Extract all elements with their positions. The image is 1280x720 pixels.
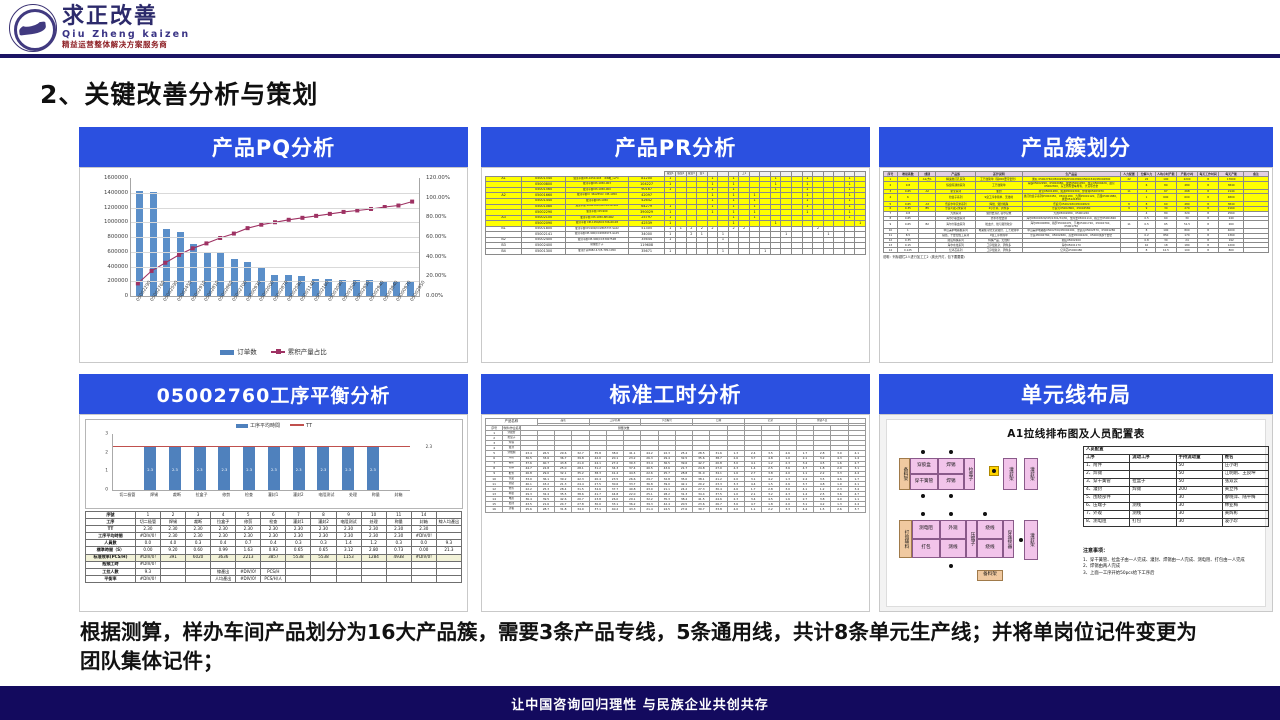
balance-cell: 2.30	[411, 526, 436, 533]
balance-cell: 2.30	[261, 526, 286, 533]
balance-cell: 3857	[261, 554, 286, 561]
slide-footer: 让中国咨询回归理性 与民族企业共创共存	[0, 686, 1280, 720]
balance-takt-line	[113, 446, 410, 447]
summary-text: 根据测算，样办车间产品划分为16大产品簇，需要3条产品专线，5条通用线，共计8条…	[80, 618, 1210, 676]
cluster-cell-split: 0.5	[1138, 221, 1155, 229]
balance-cell: 6	[261, 512, 286, 519]
pr-mark	[707, 249, 718, 255]
layout-station-box: 焊锡	[938, 458, 964, 474]
balance-cell: 4	[211, 512, 236, 519]
pr-qty: 35671	[628, 249, 665, 255]
balance-cell	[286, 568, 311, 575]
cluster-cell-men	[1120, 181, 1137, 189]
personnel-row: 4、灌封焊锡200黄立伟	[1084, 487, 1269, 495]
balance-cell: #DIV/0!	[411, 533, 436, 540]
pr-mark	[823, 249, 834, 255]
pr-mark	[676, 249, 687, 255]
balance-cell: 2.30	[336, 526, 361, 533]
balance-bar: 2.3	[367, 447, 379, 490]
personnel-row: 1、附件50庄小明	[1084, 463, 1269, 471]
personnel-config-table: 人员配置工序流动工序手持流动量姓名1、附件50庄小明2、焊锡50江明刚、王良坤3…	[1083, 446, 1269, 527]
balance-cell	[311, 561, 336, 568]
balance-x-axis-labels: 切二极管焊锡裁断拉盒子修剪检查灌封1灌封2电阻测试处理称量封箱	[112, 492, 410, 498]
personnel-cell: 黄立伟	[1222, 487, 1268, 495]
cluster-cell-line	[918, 181, 935, 189]
balance-row-label: 标准效率(PCS/H)	[86, 554, 136, 561]
cluster-cell-daily: 260	[1219, 221, 1244, 229]
personnel-cell: 张双云	[1222, 479, 1268, 487]
pq-y-tick: 600000	[84, 249, 128, 255]
personnel-cell: 30	[1176, 511, 1222, 519]
balance-table-row: 工拉人數9.3線產出#DIV/0!PCS/H	[86, 568, 462, 575]
balance-cell	[286, 575, 311, 582]
operator-dot	[1019, 538, 1023, 542]
cluster-cell-no: 9	[884, 221, 898, 229]
operator-dot	[949, 450, 953, 454]
balance-tt-value: 2.3	[426, 444, 432, 449]
personnel-cell	[1130, 471, 1176, 479]
layout-station-box: 焊锡	[938, 474, 964, 490]
personnel-cell: 50	[1176, 463, 1222, 471]
personnel-header-cell: 流动工序	[1130, 455, 1176, 463]
balance-cell	[186, 561, 211, 568]
balance-cell: 1153	[336, 554, 361, 561]
balance-cell: 1.2	[361, 540, 386, 547]
pr-mark	[834, 249, 845, 255]
balance-cell: 电阻测试	[336, 519, 361, 526]
cluster-cell-products: 亿鸿芯05000480	[1022, 248, 1120, 253]
balance-cell: #DIV/0!	[135, 554, 160, 561]
pq-y-tick: 1600000	[84, 175, 128, 181]
balance-bar: 2.3	[194, 447, 206, 490]
cluster-table: 序号难易系数线别产品族差异说明生产品品人力配置分解人力人均小时产能产能/小时每天…	[883, 171, 1269, 253]
standard-hours-wrapper: 产品名称品名工序名称节点编号日期记录测试人员序号零件/作业名称测量次数1穿胶管2…	[485, 418, 866, 608]
balance-cell: 2.30	[336, 533, 361, 540]
balance-x-tick: 切二极管	[119, 492, 135, 498]
pq-gridline	[131, 208, 419, 209]
balance-cell: 0.73	[386, 547, 411, 554]
balance-row-label: 工序平均時間	[86, 533, 136, 540]
balance-bar-label: 2.3	[246, 468, 252, 472]
balance-cell	[411, 561, 436, 568]
pr-mark	[770, 249, 781, 255]
panel-standard-hours-title: 标准工时分析	[481, 374, 870, 414]
balance-bar: 2.3	[169, 447, 181, 490]
pq-legend-line: 累积产量占比	[271, 346, 327, 356]
pr-mark	[802, 249, 813, 255]
balance-cell: 5	[236, 512, 261, 519]
pq-y-tick: 200000	[84, 278, 128, 284]
personnel-cell: 2、焊锡	[1084, 471, 1130, 479]
balance-cell: 灌封1	[286, 519, 311, 526]
balance-cell: PCS/H/人	[261, 575, 286, 582]
personnel-cell: 1、附件	[1084, 463, 1130, 471]
layout-station-box: 打包	[912, 539, 940, 558]
personnel-row: 3、穿干簧管拉盒子50张双云	[1084, 479, 1269, 487]
balance-row-label: TT	[86, 526, 136, 533]
slide-header: 求正改善 Qiu Zheng kaizen 精益运营整体解决方案服务商	[0, 0, 1280, 56]
balance-x-tick: 封箱	[395, 492, 403, 498]
balance-cell: 人均產出	[211, 575, 236, 582]
operator-dot	[949, 564, 953, 568]
balance-cell	[386, 561, 411, 568]
personnel-cell: 4、灌封	[1084, 487, 1130, 495]
balance-cell: 检查	[261, 519, 286, 526]
layout-station-box: 拉盒子	[964, 458, 975, 490]
company-logo: 求正改善 Qiu Zheng kaizen 精益运营整体解决方案服务商	[8, 3, 190, 53]
cluster-cell-men	[1120, 194, 1137, 202]
balance-cell	[236, 561, 261, 568]
cluster-cell-products: 海霸05002290、05002980，奥要05001050、拉克0500042…	[1022, 181, 1120, 189]
balance-cell	[160, 575, 185, 582]
balance-cell: 4938	[386, 554, 411, 561]
balance-bar: 2.3	[342, 447, 354, 490]
cluster-cell-note	[1244, 221, 1269, 229]
cluster-cell-pph: 65	[1155, 221, 1176, 229]
balance-cell: 2.30	[211, 526, 236, 533]
personnel-row: 7、外观测线30黄辉彰	[1084, 511, 1269, 519]
balance-bar: 2.3	[317, 447, 329, 490]
balance-cell: 2.30	[386, 533, 411, 540]
pr-mark	[855, 249, 866, 255]
balance-cell: 9.20	[160, 547, 185, 554]
pq-legend-bar: 订单数	[220, 346, 257, 356]
pq-y2-tick: 120.00%	[423, 175, 463, 181]
balance-cell: 21.3	[436, 547, 461, 554]
pr-mark	[728, 249, 739, 255]
balance-cell: 0.60	[186, 547, 211, 554]
balance-y-tick: 2	[86, 450, 108, 455]
personnel-row: 6、压端子测线30林亚梅	[1084, 503, 1269, 511]
personnel-cell: 黄辉彰	[1222, 511, 1268, 519]
personnel-cell: 30	[1176, 519, 1222, 527]
balance-cell: 2.30	[186, 526, 211, 533]
balance-cell: 14	[411, 512, 436, 519]
balance-y-tick: 0	[86, 488, 108, 493]
balance-cell: 6020	[186, 554, 211, 561]
balance-cell	[361, 568, 386, 575]
balance-cell	[286, 561, 311, 568]
balance-cell: 切二极管	[135, 519, 160, 526]
standard-hours-table: 产品名称品名工序名称节点编号日期记录测试人员序号零件/作业名称测量次数1穿胶管2…	[485, 418, 866, 513]
balance-x-tick: 裁断	[173, 492, 181, 498]
balance-cell: 3.12	[336, 547, 361, 554]
pq-gridline	[131, 222, 419, 223]
balance-cell	[436, 512, 461, 519]
personnel-cell: 3、穿干簧管	[1084, 479, 1130, 487]
panel-pq-body: 0200000400000600000800000100000012000001…	[79, 167, 468, 363]
balance-cell: 10	[361, 512, 386, 519]
balance-cell: 2.30	[135, 526, 160, 533]
pr-matrix-table: 版盒1版盒2版盒3盒1工1A105001540灌注平衡CPI-1050-903 …	[485, 171, 866, 255]
balance-cell: 11	[386, 512, 411, 519]
personnel-cell: 林亚梅	[1222, 503, 1268, 511]
pr-group: B4	[486, 249, 522, 255]
panel-process-balance: 05002760工序平衡分析 工序平均時間 TT 2.32.32.32.32.3…	[79, 374, 468, 612]
balance-bar: 2.3	[218, 447, 230, 490]
panel-pq-title: 产品PQ分析	[79, 127, 468, 167]
operator-dot	[949, 512, 953, 516]
personnel-cell: 5、围绕部件	[1084, 495, 1130, 503]
cell-layout-notes: 注意事项： 1、穿干簧管、拉盒子由一人完成、灌封、焊锡由一人完成、测电阻、打包由…	[1083, 548, 1273, 578]
pq-y-tick: 1400000	[84, 190, 128, 196]
balance-cell: 2.30	[311, 533, 336, 540]
balance-cell: 0.7	[236, 540, 261, 547]
balance-cell: 9.3	[436, 540, 461, 547]
balance-cell: 1	[135, 512, 160, 519]
balance-bar-label: 2.3	[172, 468, 178, 472]
balance-cell	[436, 526, 461, 533]
pr-mark	[739, 249, 750, 255]
personnel-cell	[1130, 495, 1176, 503]
cluster-cell-coef: 6	[897, 194, 918, 202]
balance-bar: 2.3	[144, 447, 156, 490]
balance-legend-bar: 工序平均時間	[236, 422, 280, 429]
balance-cell	[386, 568, 411, 575]
balance-legend: 工序平均時間 TT	[86, 422, 462, 429]
balance-table-row: 序號123456789101114	[86, 512, 462, 519]
personnel-cell: 江明刚、王良坤	[1222, 471, 1268, 479]
personnel-cell: 测线	[1130, 503, 1176, 511]
balance-cell: 2.30	[160, 533, 185, 540]
balance-cell: 3	[186, 512, 211, 519]
balance-cell	[336, 568, 361, 575]
panel-pq-analysis: 产品PQ分析 020000040000060000080000010000001…	[79, 127, 468, 363]
layout-station-box: 穿干簧管	[910, 474, 938, 490]
layout-station-box: 外观	[940, 520, 966, 539]
cluster-cell-products: 奥打拉盒子系列05002450、05001180、九国05001120、百量05…	[1022, 194, 1120, 202]
balance-cell: 0.4	[211, 540, 236, 547]
notes-title: 注意事项：	[1083, 548, 1273, 556]
panel-cell-layout-title: 单元线布局	[879, 374, 1273, 414]
cluster-table-row: 140.125亿鸿芯系列工序很复杂、周件多亿鸿芯05000480812.5100…	[884, 248, 1269, 253]
layout-station-box: 打包辅料	[899, 520, 912, 558]
balance-cell: #DIV/0!	[135, 561, 160, 568]
balance-cell	[336, 561, 361, 568]
personnel-cell: 拉盒子	[1130, 479, 1176, 487]
layout-station-box: 灌封架	[1024, 520, 1038, 560]
balance-cell: 2.30	[311, 526, 336, 533]
balance-cell	[186, 575, 211, 582]
balance-cell: 称量	[386, 519, 411, 526]
balance-cell: 5538	[311, 554, 336, 561]
balance-x-tick: 拉盒子	[196, 492, 208, 498]
balance-cell: 線人均產出	[436, 519, 461, 526]
operator-dot	[921, 494, 925, 498]
cluster-cell-split: 6	[1138, 181, 1155, 189]
cluster-cell-cap: 600	[1176, 194, 1197, 202]
personnel-cell: 7、外观	[1084, 511, 1130, 519]
cluster-cell-diff: 粒血大、线与灌管较杂	[975, 221, 1022, 229]
pr-table-wrapper: 版盒1版盒2版盒3盒1工1A105001540灌注平衡CPI-1050-903 …	[485, 171, 866, 359]
pq-y-tick: 400000	[84, 264, 128, 270]
balance-cell: #DIV/0!	[411, 554, 436, 561]
balance-cell: 焊锡	[160, 519, 185, 526]
personnel-header-cell: 手持流动量	[1176, 455, 1222, 463]
balance-bar-label: 2.3	[370, 468, 376, 472]
cluster-cell-line	[918, 248, 935, 253]
balance-cell	[311, 575, 336, 582]
balance-x-tick: 灌封1	[268, 492, 279, 498]
cluster-cell-pph: 600	[1155, 194, 1176, 202]
balance-cell: 2.30	[236, 526, 261, 533]
logo-name-cn: 求正改善	[62, 6, 190, 28]
pr-mark	[781, 249, 792, 255]
balance-table-row: TT2.302.302.302.302.302.302.302.302.302.…	[86, 526, 462, 533]
personnel-cell: 测线	[1130, 511, 1176, 519]
balance-table-row: 工序平均時間#DIV/0!2.302.302.302.302.302.302.3…	[86, 533, 462, 540]
balance-x-tick: 焊锡	[150, 492, 158, 498]
personnel-cell: 200	[1176, 487, 1222, 495]
panel-pr-body: 版盒1版盒2版盒3盒1工1A105001540灌注平衡CPI-1050-903 …	[481, 167, 870, 363]
cluster-cell-split: 8	[1138, 248, 1155, 253]
balance-cell: 封箱	[411, 519, 436, 526]
balance-cell: 2.30	[361, 526, 386, 533]
pr-mark	[844, 249, 855, 255]
panel-pr-analysis: 产品PR分析 版盒1版盒2版盒3盒1工1A105001540灌注平衡CPI-10…	[481, 127, 870, 363]
operator-dot	[992, 469, 996, 473]
pr-mark	[749, 249, 760, 255]
cluster-cell-cap: 51.5	[1176, 221, 1197, 229]
cluster-table-wrapper: 序号难易系数线别产品族差异说明生产品品人力配置分解人力人均小时产能产能/小时每天…	[883, 171, 1269, 359]
balance-cell: 8	[311, 512, 336, 519]
balance-cell: 0.00	[135, 547, 160, 554]
pq-y2-tick: 100.00%	[423, 195, 463, 201]
balance-data-table: 序號123456789101114工序切二极管焊锡裁断拉盒子修剪检查灌封1灌封2…	[85, 511, 462, 583]
balance-row-label: 平衡率	[86, 575, 136, 582]
cluster-cell-hours: 8	[1198, 181, 1219, 189]
balance-cell	[361, 561, 386, 568]
balance-table-row: 平衡率#DIV/0!人均產出#DIV/0!PCS/H/人	[86, 575, 462, 582]
balance-cell: 1284	[361, 554, 386, 561]
sth-row: 16封箱25.628.731.834.037.140.243.321.424.5…	[486, 507, 866, 512]
balance-chart: 工序平均時間 TT 2.32.32.32.32.32.32.32.32.32.3…	[85, 419, 463, 509]
balance-cell: 2.30	[211, 533, 236, 540]
panel-cluster-title: 产品簇划分	[879, 127, 1273, 167]
personnel-table-title: 人员配置	[1084, 447, 1269, 455]
balance-plot-area: 2.32.32.32.32.32.32.32.32.32.3	[112, 434, 410, 491]
layout-station-box: 绕线	[977, 539, 1003, 558]
balance-cell	[160, 561, 185, 568]
pr-desc: 灌注开关8082.4.5/5-7P0-1050	[565, 249, 628, 255]
cluster-cell-daily: 4800	[1219, 194, 1244, 202]
personnel-cell: 6、压端子	[1084, 503, 1130, 511]
balance-x-tick: 灌封2	[293, 492, 304, 498]
note-item: 3、上面一工序开始50pcs给下工序后	[1083, 571, 1273, 578]
balance-x-tick: 处理	[349, 492, 357, 498]
balance-legend-line: TT	[290, 423, 312, 429]
cluster-cell-diff: 工艺较简单	[975, 181, 1022, 189]
balance-cell: 拉盒子	[211, 519, 236, 526]
balance-cell	[411, 568, 436, 575]
personnel-header-row: 工序流动工序手持流动量姓名	[1084, 455, 1269, 463]
pq-legend: 订单数 累积产量占比	[84, 346, 463, 356]
balance-cell: 0.00	[411, 547, 436, 554]
balance-cell: 3636	[211, 554, 236, 561]
balance-cell: 0.99	[211, 547, 236, 554]
cluster-cell-family: 拉盒子系列	[936, 194, 975, 202]
personnel-cell: 凌小珍	[1222, 519, 1268, 527]
pr-mark	[697, 249, 708, 255]
balance-cell: 2.30	[286, 533, 311, 540]
layout-station-box: 灌封架	[1024, 458, 1038, 490]
personnel-row: 5、围绕部件30廖晓萍、陆平梅	[1084, 495, 1269, 503]
cluster-cell-cap: 100	[1176, 248, 1197, 253]
cluster-cell-line	[918, 194, 935, 202]
personnel-cell: 30	[1176, 495, 1222, 503]
balance-cell: #DIV/0!	[135, 533, 160, 540]
logo-name-en: Qiu Zheng kaizen	[62, 30, 190, 40]
balance-table-row: 人員數0.04.00.30.40.70.40.30.31.41.20.30.09…	[86, 540, 462, 547]
cluster-cell-coef: 0.125	[897, 248, 918, 253]
balance-cell: 9.3	[135, 568, 160, 575]
balance-cell: 7	[286, 512, 311, 519]
personnel-row: 8、测电阻打包30凌小珍	[1084, 519, 1269, 527]
cluster-cell-note	[1244, 194, 1269, 202]
panel-cluster-body: 序号难易系数线别产品族差异说明生产品品人力配置分解人力人均小时产能产能/小时每天…	[879, 167, 1273, 363]
pr-mark: 1	[665, 249, 676, 255]
cluster-cell-diff: 工序很复杂、周件多	[975, 248, 1022, 253]
balance-cell: #DIV/0!	[236, 575, 261, 582]
balance-row-label: 工序	[86, 519, 136, 526]
panel-balance-title: 05002760工序平衡分析	[79, 374, 468, 414]
balance-table-wrapper: 序號123456789101114工序切二极管焊锡裁断拉盒子修剪检查灌封1灌封2…	[85, 511, 462, 609]
balance-bar-label: 2.3	[321, 468, 327, 472]
page-title: 2、关键改善分析与策划	[40, 75, 318, 111]
cluster-cell-pph: 12.5	[1155, 248, 1176, 253]
balance-table-row: 标准效率(PCS/H)#DIV/0!3916020363622133857553…	[86, 554, 462, 561]
balance-row-label: 人員數	[86, 540, 136, 547]
balance-cell: 0.3	[311, 540, 336, 547]
cluster-cell-men: 11	[1120, 221, 1137, 229]
panel-pr-title: 产品PR分析	[481, 127, 870, 167]
balance-cell: 2.30	[160, 526, 185, 533]
cluster-footnote: 说明：列标题栏2人进行加工工2（奥允开灯，包下要要要）	[883, 253, 1269, 259]
panel-product-cluster: 产品簇划分 序号难易系数线别产品族差异说明生产品品人力配置分解人力人均小时产能产…	[879, 127, 1273, 363]
balance-cell	[361, 575, 386, 582]
balance-cell: 2.30	[361, 533, 386, 540]
balance-table-row: 工序切二极管焊锡裁断拉盒子修剪检查灌封1灌封2电阻测试处理称量封箱線人均產出	[86, 519, 462, 526]
balance-y-tick: 3	[86, 432, 108, 437]
cluster-cell-diff: 9盒工序非简单、无线材	[975, 194, 1022, 202]
balance-cell	[436, 533, 461, 540]
cluster-cell-cap: 480	[1176, 181, 1197, 189]
balance-cell: 線產出	[211, 568, 236, 575]
balance-cell: 处理	[361, 519, 386, 526]
cluster-table-row: 46拉盒子系列9盒工序非简单、无线材奥打拉盒子系列05002450、050011…	[884, 194, 1269, 202]
pr-mark	[792, 249, 803, 255]
personnel-cell: 50	[1176, 471, 1222, 479]
cluster-cell-daily: 3840	[1219, 181, 1244, 189]
balance-row-label: 序號	[86, 512, 136, 519]
cluster-cell-no: 2	[884, 181, 898, 189]
personnel-table-wrapper: 人员配置工序流动工序手持流动量姓名1、附件50庄小明2、焊锡50江明刚、王良坤3…	[1083, 446, 1269, 527]
cluster-cell-split: 1	[1138, 194, 1155, 202]
cell-layout-heading: A1拉线排布图及人员配置表	[887, 426, 1265, 441]
balance-cell: #DIV/0!	[135, 575, 160, 582]
layout-station-box: 压端子	[966, 520, 977, 558]
balance-cell: 5538	[286, 554, 311, 561]
balance-cell: 2	[160, 512, 185, 519]
header-divider	[0, 54, 1280, 58]
balance-cell: 裁断	[186, 519, 211, 526]
pq-y2-tick: 80.00%	[423, 214, 463, 220]
balance-cell: 2.30	[186, 533, 211, 540]
balance-bar-series: 2.32.32.32.32.32.32.32.32.32.3	[113, 434, 410, 490]
balance-bar: 2.3	[293, 447, 305, 490]
cluster-cell-no: 4	[884, 194, 898, 202]
pq-y-tick: 0	[84, 293, 128, 299]
